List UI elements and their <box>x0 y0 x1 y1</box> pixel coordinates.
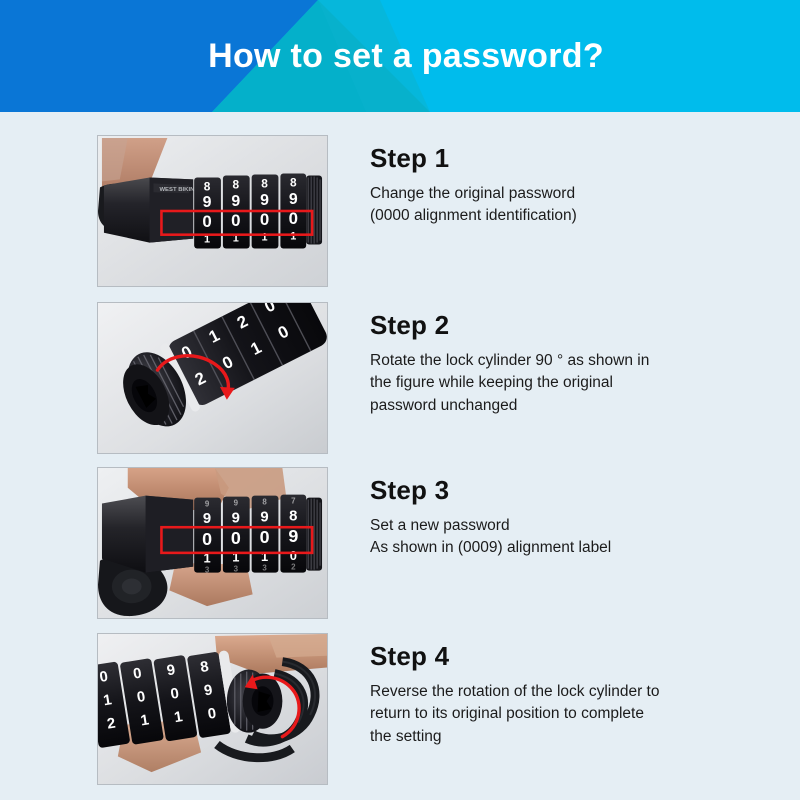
svg-text:0: 0 <box>231 211 240 230</box>
svg-text:3: 3 <box>234 565 239 574</box>
svg-text:7: 7 <box>291 497 296 506</box>
step-4-photo-panel: 0 1 2 0 0 1 9 0 1 8 9 0 <box>97 633 328 785</box>
svg-text:9: 9 <box>203 511 211 527</box>
step-title: Step 4 <box>370 641 770 672</box>
step-1-text: Step 1 Change the original password (000… <box>370 143 770 228</box>
step-2-text: Step 2 Rotate the lock cylinder 90 ° as … <box>370 310 770 417</box>
lock-cylinder-rotate-photo: 0 2 1 0 2 1 0 0 <box>98 303 327 453</box>
step-3-text: Step 3 Set a new password As shown in (0… <box>370 475 770 560</box>
svg-text:9: 9 <box>232 510 240 526</box>
svg-text:3: 3 <box>262 564 267 573</box>
svg-text:0: 0 <box>202 212 211 231</box>
steps-container: WEST BIKING 8 8 8 8 9 9 <box>0 112 800 800</box>
svg-text:8: 8 <box>290 175 297 189</box>
step-description: Reverse the rotation of the lock cylinde… <box>370 681 770 748</box>
step-title: Step 1 <box>370 143 770 174</box>
svg-text:8: 8 <box>289 508 297 524</box>
step-row: 9 9 8 7 9 9 9 8 0 0 0 9 1 <box>0 467 800 632</box>
svg-text:9: 9 <box>231 193 240 210</box>
lock-dials-0009-photo: 9 9 8 7 9 9 9 8 0 0 0 9 1 <box>98 468 327 618</box>
page-header: How to set a password? <box>0 0 800 112</box>
lock-dials-0000-photo: WEST BIKING 8 8 8 8 9 9 <box>98 136 327 286</box>
svg-text:3: 3 <box>205 566 210 575</box>
step-description: Rotate the lock cylinder 90 ° as shown i… <box>370 350 770 417</box>
step-row: 0 2 1 0 2 1 0 0 <box>0 302 800 467</box>
svg-text:1: 1 <box>261 549 268 564</box>
svg-text:8: 8 <box>204 179 211 193</box>
svg-text:1: 1 <box>290 231 296 243</box>
svg-text:8: 8 <box>261 176 268 190</box>
svg-text:9: 9 <box>203 194 212 211</box>
step-2-photo-panel: 0 2 1 0 2 1 0 0 <box>97 302 328 454</box>
svg-text:9: 9 <box>260 192 269 209</box>
svg-text:9: 9 <box>289 191 298 208</box>
svg-text:0: 0 <box>202 529 212 549</box>
step-1-photo-panel: WEST BIKING 8 8 8 8 9 9 <box>97 135 328 287</box>
lock-cylinder-reverse-photo: 0 1 2 0 0 1 9 0 1 8 9 0 <box>98 634 327 784</box>
svg-text:9: 9 <box>288 526 298 546</box>
svg-text:WEST BIKING: WEST BIKING <box>159 187 199 193</box>
step-row: 0 1 2 0 0 1 9 0 1 8 9 0 <box>0 633 800 798</box>
svg-text:9: 9 <box>205 500 210 509</box>
svg-text:9: 9 <box>234 499 239 508</box>
page-title: How to set a password? <box>0 0 800 112</box>
svg-text:0: 0 <box>231 528 241 548</box>
svg-text:0: 0 <box>260 210 269 229</box>
svg-text:2: 2 <box>291 563 296 572</box>
step-title: Step 2 <box>370 310 770 341</box>
svg-text:8: 8 <box>262 498 267 507</box>
svg-text:0: 0 <box>260 527 270 547</box>
svg-text:0: 0 <box>290 548 297 563</box>
step-4-text: Step 4 Reverse the rotation of the lock … <box>370 641 770 748</box>
svg-text:8: 8 <box>232 177 239 191</box>
svg-text:9: 9 <box>260 509 268 525</box>
step-description: Set a new password As shown in (0009) al… <box>370 515 770 560</box>
step-title: Step 3 <box>370 475 770 506</box>
step-3-photo-panel: 9 9 8 7 9 9 9 8 0 0 0 9 1 <box>97 467 328 619</box>
step-row: WEST BIKING 8 8 8 8 9 9 <box>0 135 800 300</box>
step-description: Change the original password (0000 align… <box>370 183 770 228</box>
